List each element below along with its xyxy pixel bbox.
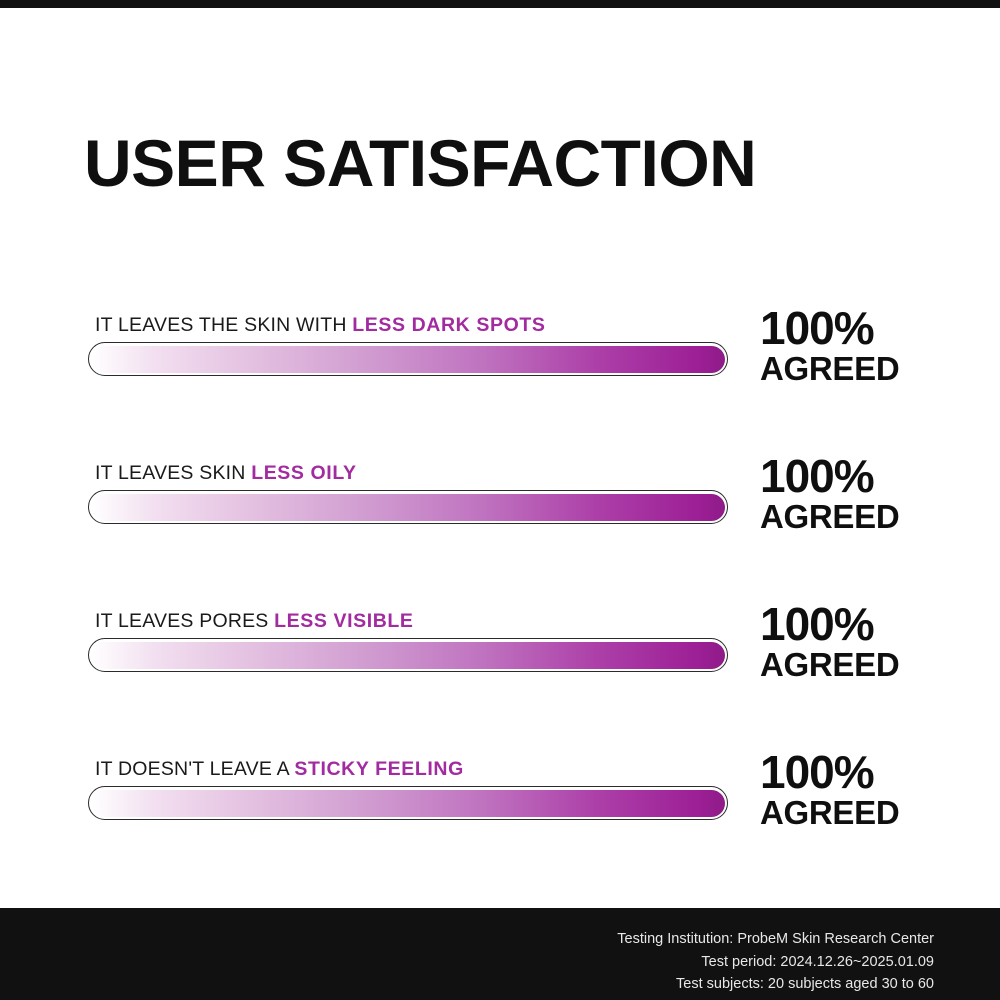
agreed-label: AGREED (760, 796, 960, 829)
row-label: IT DOESN'T LEAVE A STICKY FEELING (95, 758, 464, 781)
row-label-plain: IT LEAVES SKIN (95, 462, 251, 484)
footer-line-subjects: Test subjects: 20 subjects aged 30 to 60 (617, 973, 934, 996)
satisfaction-rows: IT LEAVES THE SKIN WITH LESS DARK SPOTS … (0, 298, 1000, 890)
status-badge: 100% AGREED (760, 454, 960, 533)
progress-bar-fill (92, 642, 725, 669)
footer-line-institution: Testing Institution: ProbeM Skin Researc… (617, 928, 934, 951)
row-label-plain: IT LEAVES PORES (95, 610, 274, 632)
status-badge: 100% AGREED (760, 602, 960, 681)
poster: USER SATISFACTION IT LEAVES THE SKIN WIT… (0, 0, 1000, 1000)
row-label-highlight: LESS VISIBLE (274, 610, 413, 632)
progress-bar-track (88, 490, 728, 524)
footer-line-period: Test period: 2024.12.26~2025.01.09 (617, 951, 934, 974)
status-badge: 100% AGREED (760, 306, 960, 385)
percent-value: 100% (760, 454, 960, 498)
row-label: IT LEAVES THE SKIN WITH LESS DARK SPOTS (95, 314, 545, 337)
row-label-plain: IT LEAVES THE SKIN WITH (95, 314, 352, 336)
percent-value: 100% (760, 306, 960, 350)
percent-value: 100% (760, 602, 960, 646)
agreed-label: AGREED (760, 500, 960, 533)
row-label-highlight: LESS DARK SPOTS (352, 314, 545, 336)
row-label: IT LEAVES SKIN LESS OILY (95, 462, 357, 485)
progress-bar-fill (92, 346, 725, 373)
row-label-plain: IT DOESN'T LEAVE A (95, 758, 294, 780)
satisfaction-card: USER SATISFACTION IT LEAVES THE SKIN WIT… (0, 8, 1000, 908)
list-item: IT DOESN'T LEAVE A STICKY FEELING 100% A… (0, 742, 1000, 890)
agreed-label: AGREED (760, 352, 960, 385)
footer: Testing Institution: ProbeM Skin Researc… (0, 908, 1000, 1000)
status-badge: 100% AGREED (760, 750, 960, 829)
progress-bar-track (88, 342, 728, 376)
footer-text: Testing Institution: ProbeM Skin Researc… (617, 928, 934, 996)
progress-bar-track (88, 638, 728, 672)
row-label-highlight: STICKY FEELING (294, 758, 463, 780)
agreed-label: AGREED (760, 648, 960, 681)
row-label: IT LEAVES PORES LESS VISIBLE (95, 610, 414, 633)
progress-bar-fill (92, 790, 725, 817)
row-label-highlight: LESS OILY (251, 462, 356, 484)
progress-bar-track (88, 786, 728, 820)
percent-value: 100% (760, 750, 960, 794)
progress-bar-fill (92, 494, 725, 521)
list-item: IT LEAVES PORES LESS VISIBLE 100% AGREED (0, 594, 1000, 742)
list-item: IT LEAVES THE SKIN WITH LESS DARK SPOTS … (0, 298, 1000, 446)
list-item: IT LEAVES SKIN LESS OILY 100% AGREED (0, 446, 1000, 594)
page-title: USER SATISFACTION (84, 130, 756, 196)
